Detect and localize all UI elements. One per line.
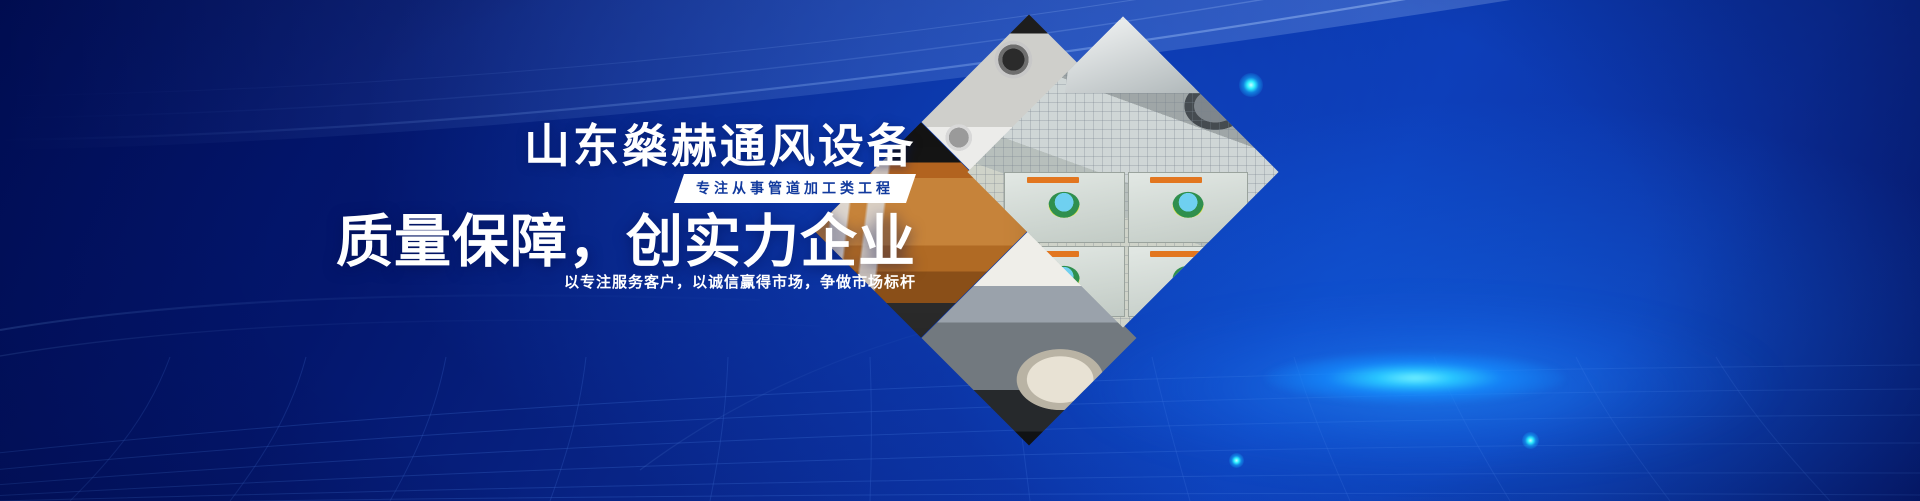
tagline-badge: 专注从事管道加工类工程 [674,174,916,203]
hero-copy-block: 山东燊赫通风设备 专注从事管道加工类工程 质量保障，创实力企业 以专注服务客户，… [0,0,940,501]
hero-subline: 以专注服务客户，以诚信赢得市场，争做市场标杆 [0,275,940,290]
hero-headline: 质量保障，创实力企业 [0,210,940,276]
tagline-wrapper: 专注从事管道加工类工程 [0,174,940,203]
diamond-base-glow [1265,352,1565,404]
glow-dot-lower-left [1229,453,1244,468]
hero-banner: 山东燊赫通风设备 专注从事管道加工类工程 质量保障，创实力企业 以专注服务客户，… [0,0,1920,501]
company-title: 山东燊赫通风设备 [0,123,940,169]
glow-dot-right [1522,432,1539,449]
